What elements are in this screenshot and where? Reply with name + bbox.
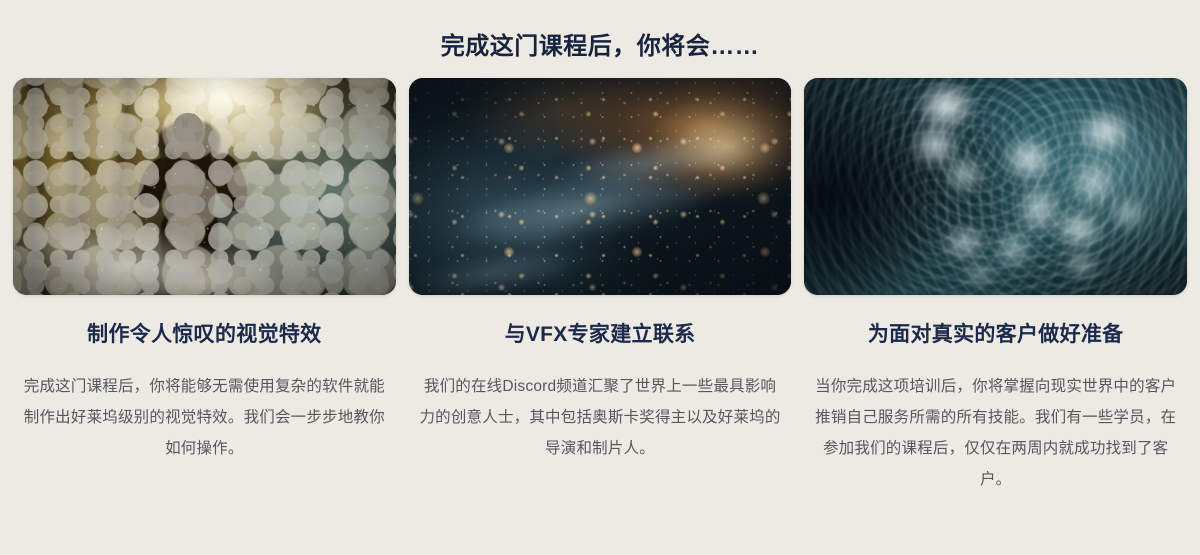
image-vignette [13, 78, 396, 295]
card-image-runner [13, 78, 396, 295]
benefit-card-3: 为面对真实的客户做好准备 当你完成这项培训后，你将掌握向现实世界中的客户推销自己… [804, 78, 1187, 495]
benefit-card-2: 与VFX专家建立联系 我们的在线Discord频道汇聚了世界上一些最具影响力的创… [409, 78, 792, 464]
benefit-card-body: 我们的在线Discord频道汇聚了世界上一些最具影响力的创意人士，其中包括奥斯卡… [409, 371, 792, 464]
benefit-card-body: 完成这门课程后，你将能够无需使用复杂的软件就能制作出好莱坞级别的视觉特效。我们会… [13, 371, 396, 464]
card-image-smoke [804, 78, 1187, 295]
benefit-card-body: 当你完成这项培训后，你将掌握向现实世界中的客户推销自己服务所需的所有技能。我们有… [804, 371, 1187, 495]
image-vignette [409, 78, 792, 295]
benefit-card-title: 与VFX专家建立联系 [409, 321, 792, 349]
benefit-card-title: 为面对真实的客户做好准备 [804, 321, 1187, 349]
benefits-section: 完成这门课程后，你将会…… 制作令人 [0, 0, 1200, 555]
benefit-card-1: 制作令人惊叹的视觉特效 完成这门课程后，你将能够无需使用复杂的软件就能制作出好莱… [13, 78, 396, 464]
benefit-card-title: 制作令人惊叹的视觉特效 [13, 321, 396, 349]
section-title: 完成这门课程后，你将会…… [0, 0, 1200, 64]
benefit-cards-row: 制作令人惊叹的视觉特效 完成这门课程后，你将能够无需使用复杂的软件就能制作出好莱… [0, 78, 1200, 495]
image-vignette [804, 78, 1187, 295]
card-image-bokeh [409, 78, 792, 295]
